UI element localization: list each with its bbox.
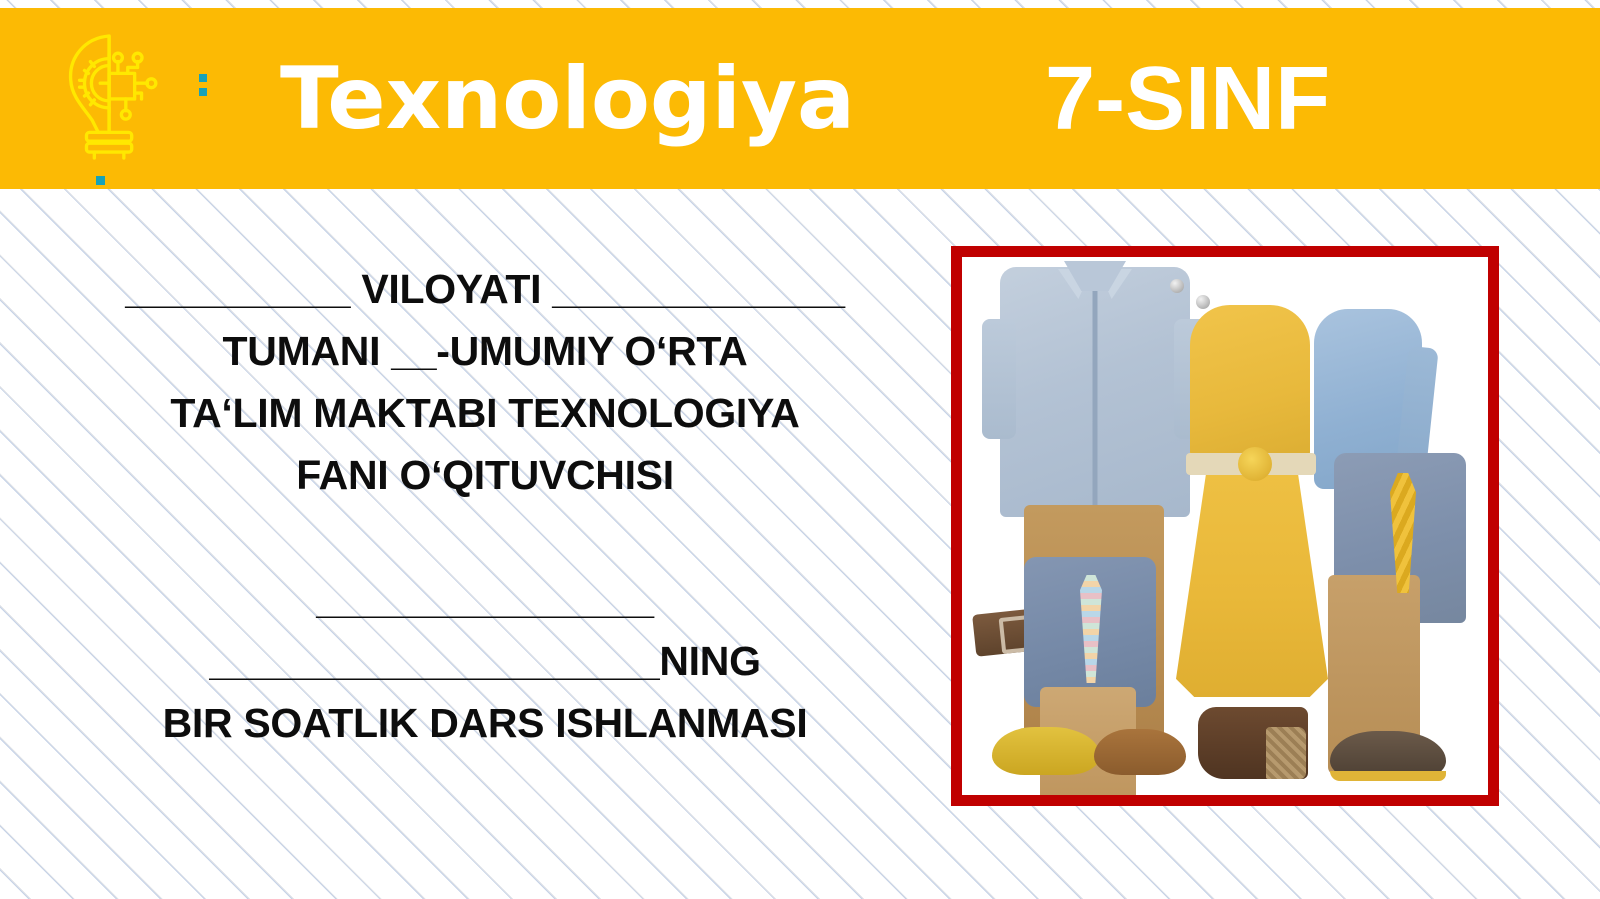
pearl-earring (1170, 279, 1184, 293)
page-title: Texnologiya (280, 56, 855, 142)
text-line-spacer (40, 506, 930, 568)
tan-boat-shoes (1094, 729, 1186, 775)
grade-label: 7-SINF (1045, 54, 1330, 144)
shirt-sleeve-left (982, 319, 1016, 439)
brown-wedge-sandals (1198, 707, 1308, 779)
yellow-draped-dress-bodice (1190, 305, 1310, 460)
chambray-button-down-shirt (1000, 267, 1190, 517)
slide-canvas: Texnologiya 7-SINF __________ VILOYATI _… (0, 0, 1600, 899)
yellow-sneakers (992, 727, 1100, 775)
accent-dot (199, 88, 207, 96)
accent-dot-lower (96, 176, 105, 185)
lightbulb-gear-circuit-icon (55, 26, 173, 166)
pearl-earring (1196, 295, 1210, 309)
lesson-plan-heading-text: __________ VILOYATI _____________ TUMANI… (40, 258, 930, 754)
text-line-2: TUMANI __-UMUMIY O‘RTA (40, 320, 930, 382)
text-line-1: __________ VILOYATI _____________ (40, 258, 930, 320)
yellow-draped-dress-skirt (1176, 471, 1328, 697)
brown-walking-shoes (1330, 731, 1446, 781)
header-titles: Texnologiya 7-SINF (280, 8, 1430, 189)
shirt-collar-right (1098, 269, 1132, 299)
accent-dots (199, 74, 209, 98)
dress-belt-with-flower (1186, 453, 1316, 475)
text-line-3: TA‘LIM MAKTABI TEXNOLOGIYA (40, 382, 930, 444)
family-outfit-collage-image (962, 257, 1488, 795)
photo-frame (951, 246, 1499, 806)
text-line-7: BIR SOATLIK DARS ISHLANMASI (40, 692, 930, 754)
shirt-collar-left (1058, 269, 1092, 299)
text-line-5: _______________ (40, 568, 930, 630)
accent-dot (199, 74, 207, 82)
text-line-6: ____________________NING (40, 630, 930, 692)
text-line-4: FANI O‘QITUVCHISI (40, 444, 930, 506)
